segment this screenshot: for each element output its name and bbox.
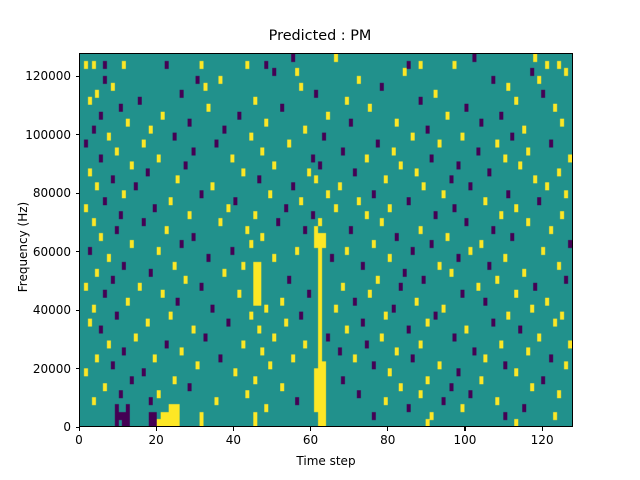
x-axis-label: Time step — [79, 454, 573, 468]
heatmap-canvas — [80, 54, 572, 426]
y-tick-label: 60000 — [0, 245, 71, 259]
y-tick-label: 0 — [0, 420, 71, 434]
x-tick-label: 120 — [531, 433, 554, 447]
y-tick-mark — [76, 368, 80, 369]
matplotlib-figure: Predicted : PM 0204060801001200200004000… — [0, 0, 640, 480]
x-tick-label: 40 — [226, 433, 241, 447]
y-tick-mark — [76, 251, 80, 252]
y-tick-label: 100000 — [0, 128, 71, 142]
y-tick-label: 40000 — [0, 303, 71, 317]
y-tick-mark — [76, 310, 80, 311]
x-tick-mark — [542, 427, 543, 431]
y-tick-label: 120000 — [0, 69, 71, 83]
y-tick-mark — [76, 193, 80, 194]
y-tick-mark — [76, 134, 80, 135]
heatmap-axes — [79, 53, 573, 427]
x-tick-mark — [156, 427, 157, 431]
y-tick-mark — [76, 427, 80, 428]
chart-title: Predicted : PM — [0, 28, 640, 44]
x-tick-mark — [387, 427, 388, 431]
y-tick-mark — [76, 76, 80, 77]
x-tick-mark — [310, 427, 311, 431]
x-tick-label: 0 — [75, 433, 83, 447]
y-axis-label: Frequency (Hz) — [16, 147, 30, 347]
x-tick-label: 60 — [303, 433, 318, 447]
x-tick-label: 100 — [453, 433, 476, 447]
x-tick-mark — [233, 427, 234, 431]
x-tick-mark — [464, 427, 465, 431]
x-tick-label: 20 — [149, 433, 164, 447]
y-tick-label: 80000 — [0, 186, 71, 200]
x-tick-label: 80 — [380, 433, 395, 447]
y-tick-label: 20000 — [0, 362, 71, 376]
